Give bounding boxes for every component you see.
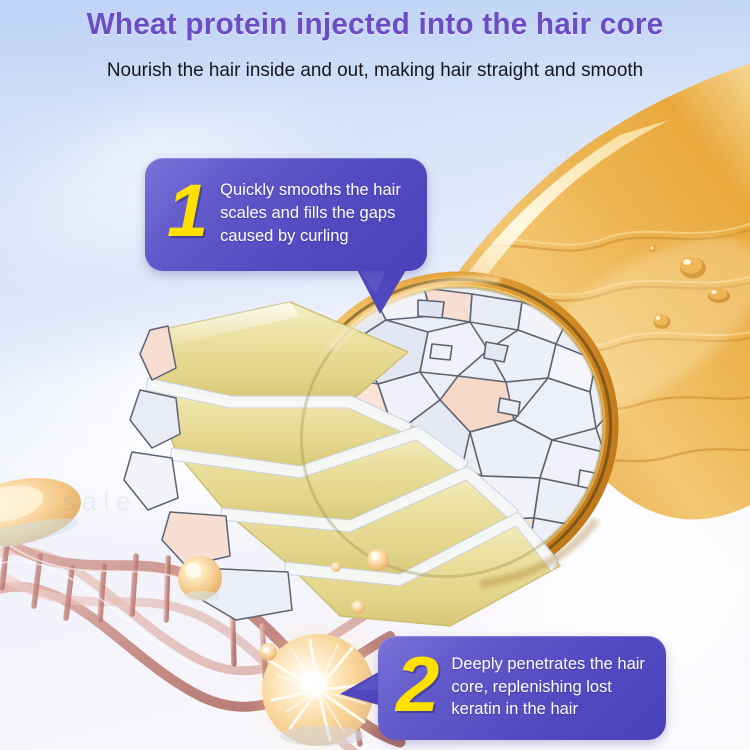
callout-2-number: 2 (396, 653, 439, 717)
callout-2-text: Deeply penetrates the hair core, repleni… (451, 653, 645, 721)
callout-1-line-3: caused by curling (220, 225, 401, 248)
callout-2-line-1: Deeply penetrates the hair (451, 653, 645, 676)
callout-1-line-2: scales and fills the gaps (220, 202, 401, 225)
page-subtitle: Nourish the hair inside and out, making … (11, 59, 739, 82)
callout-1: 1 Quickly smooths the hair scales and fi… (145, 158, 427, 271)
heading-block: Wheat protein injected into the hair cor… (0, 6, 750, 82)
page-title: Wheat protein injected into the hair cor… (15, 6, 735, 42)
poster-root: sale Wheat protein injected into the hai… (0, 0, 750, 750)
callout-2: 2 Deeply penetrates the hair core, reple… (378, 636, 666, 740)
callout-1-number: 1 (167, 181, 208, 242)
callout-2-line-3: keratin in the hair (451, 698, 645, 721)
watermark: sale (62, 486, 138, 517)
callout-2-line-2: core, replenishing lost (451, 676, 645, 699)
callout-1-text: Quickly smooths the hair scales and fill… (220, 179, 401, 247)
callout-1-line-1: Quickly smooths the hair (220, 179, 401, 202)
